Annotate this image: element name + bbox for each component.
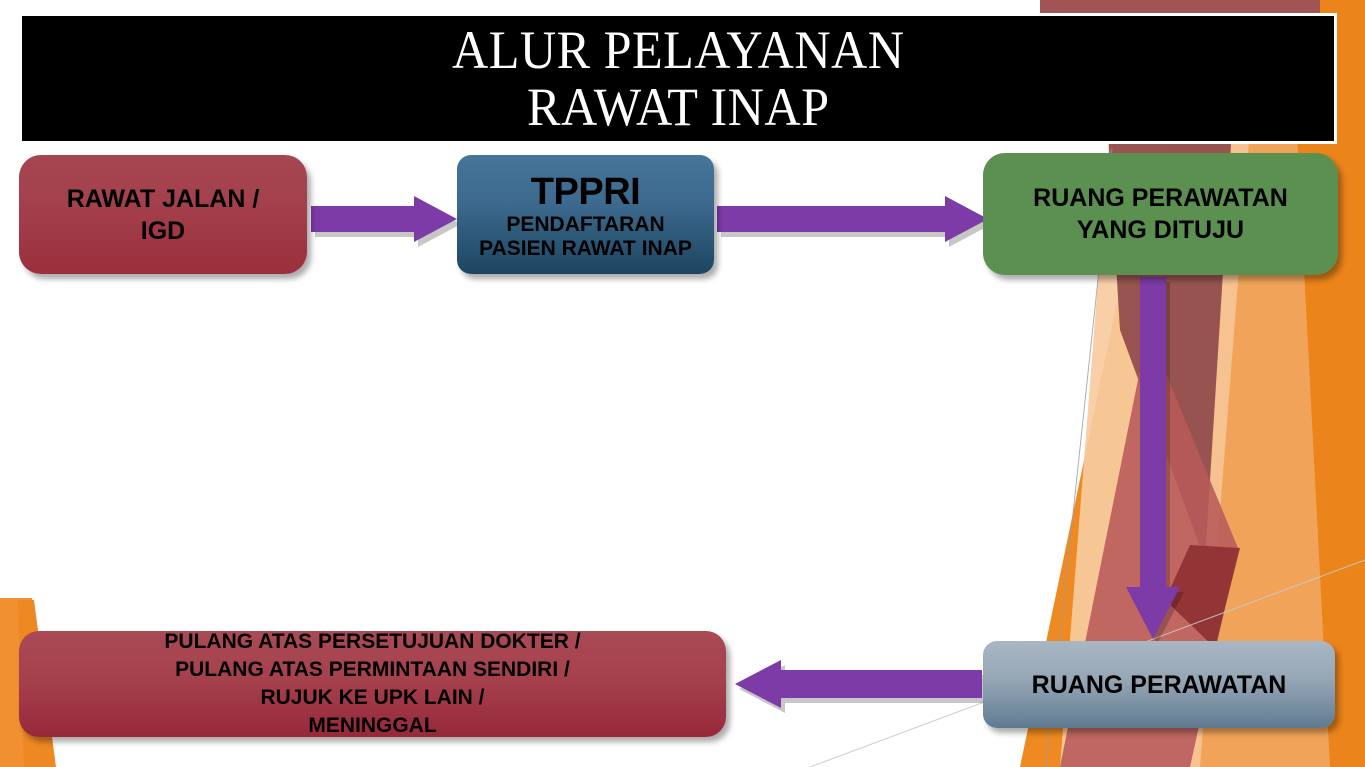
arrow-ruang-tuju-to-ruang-perawatan xyxy=(1125,275,1197,647)
flow-node-label: RUANG PERAWATAN xyxy=(1032,670,1287,700)
slide-canvas: ALUR PELAYANAN RAWAT INAP RAWAT JALAN / … xyxy=(0,0,1365,767)
arrow-ruang-perawatan-to-pulang xyxy=(726,656,988,714)
flow-node-label: PULANG ATAS PERSETUJUAN DOKTER / PULANG … xyxy=(164,628,580,740)
flow-node-subtext: PENDAFTARAN PASIEN RAWAT INAP xyxy=(479,213,692,261)
flow-node-tppri[interactable]: TPPRI PENDAFTARAN PASIEN RAWAT INAP xyxy=(457,155,714,274)
page-title: ALUR PELAYANAN RAWAT INAP xyxy=(452,22,904,135)
arrow-rawat-jalan-to-tppri xyxy=(308,192,460,248)
arrow-tppri-to-ruang-tuju xyxy=(714,192,992,248)
slide-title-box: ALUR PELAYANAN RAWAT INAP xyxy=(19,13,1337,144)
flow-node-label: RAWAT JALAN / IGD xyxy=(67,183,260,247)
flow-node-heading: TPPRI xyxy=(531,173,640,211)
flow-node-ruang-perawatan[interactable]: RUANG PERAWATAN xyxy=(983,641,1335,728)
flow-node-rawat-jalan-igd[interactable]: RAWAT JALAN / IGD xyxy=(19,155,307,274)
flow-node-ruang-perawatan-yang-dituju[interactable]: RUANG PERAWATAN YANG DITUJU xyxy=(983,153,1338,275)
flow-node-pulang[interactable]: PULANG ATAS PERSETUJUAN DOKTER / PULANG … xyxy=(19,631,726,737)
flow-node-label: RUANG PERAWATAN YANG DITUJU xyxy=(1033,182,1288,247)
